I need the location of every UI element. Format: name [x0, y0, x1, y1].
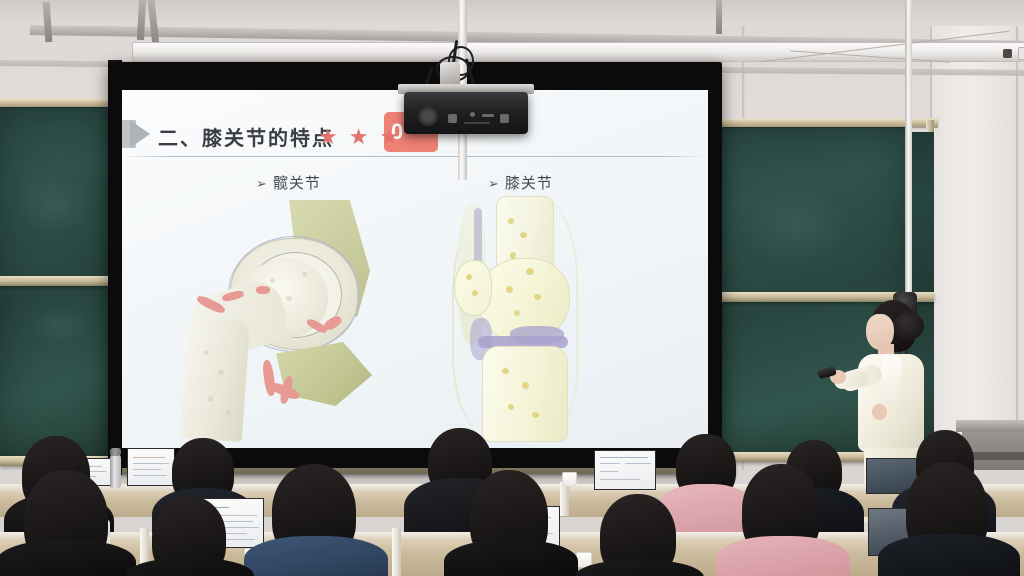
- presenter-lapel: [878, 355, 901, 406]
- audience-shoulders: [716, 536, 850, 576]
- blackboard-frame-right: [708, 118, 938, 127]
- label-hip-joint-text: 髋关节: [273, 174, 321, 192]
- status-led: [464, 122, 490, 124]
- laptop-screen[interactable]: [594, 450, 656, 490]
- status-led: [482, 114, 494, 117]
- thermos-cap: [110, 448, 121, 456]
- projector-speaker-bar[interactable]: [404, 92, 528, 134]
- speaker-grille-icon: [418, 106, 438, 126]
- chevron-right-icon: [130, 120, 150, 148]
- mount-bracket: [716, 0, 722, 34]
- status-led: [470, 112, 475, 117]
- paper-cup: [562, 472, 577, 487]
- audience-shoulders: [444, 540, 578, 576]
- bullet-arrow-icon: ➢: [488, 177, 500, 192]
- star-icon: ★: [379, 126, 399, 148]
- knee-joint-illustration: [452, 198, 602, 442]
- status-led: [448, 114, 457, 123]
- audience-shoulders: [244, 536, 388, 576]
- roller-sensor: [1003, 49, 1012, 58]
- star-icon: ★: [318, 126, 338, 148]
- slide-divider: [122, 156, 708, 157]
- presenter-hand-second: [872, 404, 887, 420]
- slide-title: 二、膝关节的特点: [158, 122, 334, 151]
- tibia: [482, 346, 568, 442]
- lecture-hall-screenshot: 二、膝关节的特点 0 ★ ★ ★ ➢髋关节 ➢膝关节: [0, 0, 1024, 576]
- audience-shoulders: [878, 534, 1020, 576]
- star-rating: ★ ★ ★: [318, 126, 399, 148]
- desk-divider: [560, 482, 569, 516]
- status-led: [500, 114, 509, 123]
- label-knee-joint: ➢膝关节: [488, 172, 553, 193]
- chalk-ledge-left: [0, 276, 116, 286]
- presentation-slide[interactable]: 二、膝关节的特点 0 ★ ★ ★ ➢髋关节 ➢膝关节: [122, 90, 708, 448]
- bullet-arrow-icon: ➢: [256, 177, 268, 192]
- laptop-screen[interactable]: [127, 448, 175, 486]
- thermos: [110, 454, 121, 488]
- hip-joint-illustration: [178, 200, 398, 438]
- patella: [454, 260, 492, 316]
- label-knee-joint-text: 膝关节: [505, 174, 553, 192]
- desk-divider: [392, 528, 401, 576]
- audience-area: [0, 436, 1024, 576]
- lectern-top: [956, 420, 1024, 432]
- audience-shoulders: [0, 540, 136, 576]
- femoral-shaft: [180, 316, 250, 442]
- camera-pole: [905, 0, 912, 300]
- blackboard-frame: [0, 98, 118, 107]
- presenter-hair-bun: [894, 312, 924, 340]
- roller-label: [1018, 47, 1024, 60]
- star-icon: ★: [349, 126, 369, 148]
- label-hip-joint: ➢髋关节: [256, 172, 321, 193]
